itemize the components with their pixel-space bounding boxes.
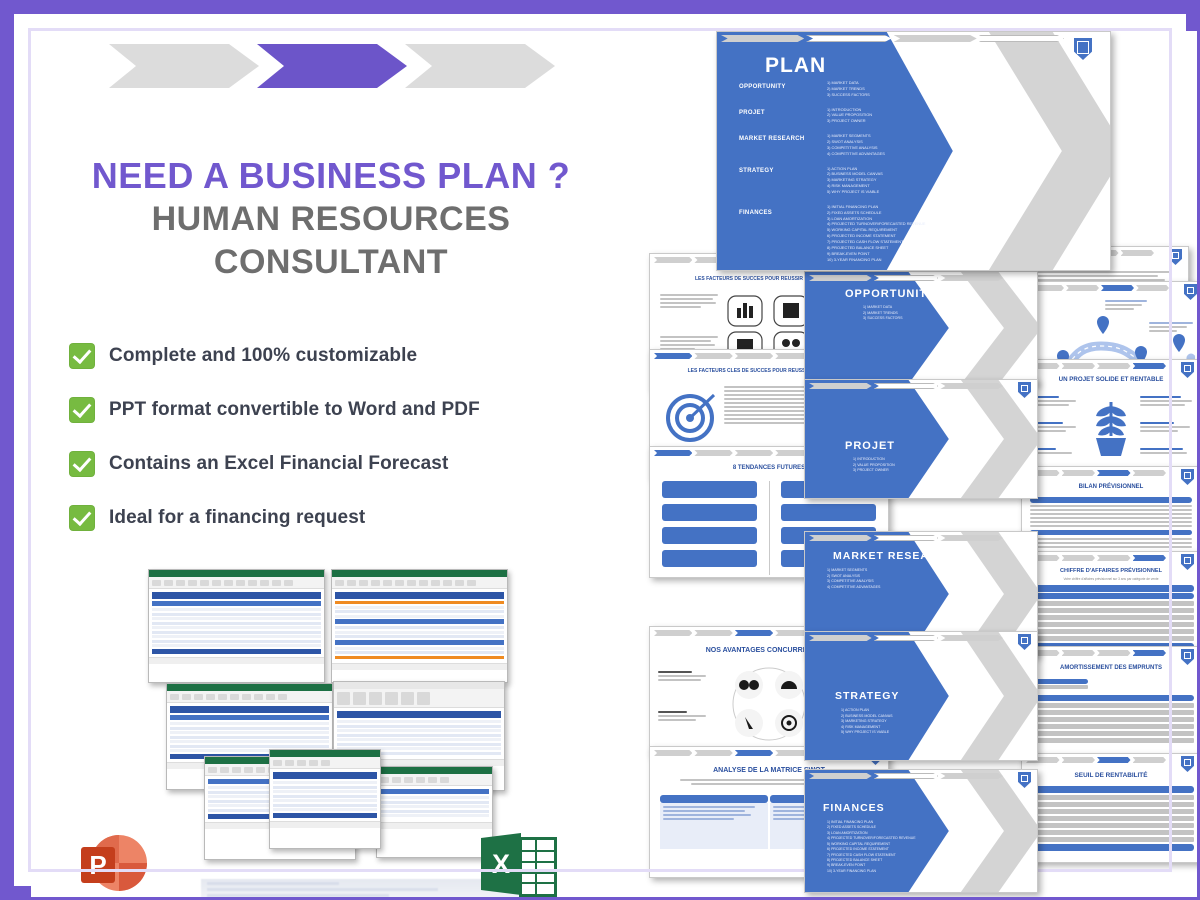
headline-question: NEED A BUSINESS PLAN ? (31, 156, 631, 196)
shield-icon (1018, 772, 1031, 788)
feature-label: PPT format convertible to Word and PDF (109, 399, 480, 421)
shield-icon (1181, 469, 1194, 485)
slide-title: CHIFFRE D'AFFAIRES PRÉVISIONNEL (1022, 568, 1197, 574)
shield-icon (1074, 38, 1092, 60)
section-title: OPPORTUNITY (845, 288, 935, 300)
shield-icon (1169, 249, 1182, 265)
headline-subject-line2: CONSULTANT (31, 243, 631, 282)
shield-icon (1181, 756, 1194, 772)
shield-icon (1184, 284, 1197, 300)
excel-window (148, 569, 325, 683)
feature-list: Complete and 100% customizable PPT forma… (69, 343, 629, 559)
excel-window (376, 766, 493, 858)
section-slide[interactable]: OPPORTUNITY 1) MARKET DATA 2) MARKET TRE… (804, 271, 1038, 385)
list-item: Ideal for a financing request (69, 505, 629, 531)
plan-title: PLAN (765, 54, 826, 78)
section-list: 1) MARKET DATA 2) MARKET TRENDS 3) SUCCE… (863, 305, 902, 322)
check-icon (69, 505, 95, 531)
content-slide[interactable]: AMORTISSEMENT DES EMPRUNTS (1021, 646, 1197, 758)
check-icon (69, 397, 95, 423)
slide-title: AMORTISSEMENT DES EMPRUNTS (1022, 665, 1197, 671)
slide-subtitle: Votre chiffre d'affaires prévisionnel su… (1022, 577, 1197, 581)
slide-subtitle (1022, 386, 1197, 390)
slide-title: UN PROJET SOLIDE ET RENTABLE (1022, 376, 1197, 383)
section-title: FINANCES (823, 802, 885, 814)
plant-icon (1082, 396, 1140, 458)
section-slide[interactable]: PROJET 1) INTRODUCTION 2) VALUE PROPOSIT… (804, 379, 1038, 499)
shield-icon (1018, 382, 1031, 398)
check-icon (69, 343, 95, 369)
page-frame: NEED A BUSINESS PLAN ? HUMAN RESOURCES C… (0, 0, 1200, 900)
headline-block: NEED A BUSINESS PLAN ? HUMAN RESOURCES C… (31, 156, 631, 283)
content-slide[interactable]: SEUIL DE RENTABILITÉ (1021, 753, 1197, 863)
feature-label: Complete and 100% customizable (109, 345, 417, 367)
shield-icon (1181, 649, 1194, 665)
list-item: Contains an Excel Financial Forecast (69, 451, 629, 477)
section-title: STRATEGY (835, 690, 899, 702)
section-title: MARKET RESEARCH (833, 550, 955, 562)
slide-title: SEUIL DE RENTABILITÉ (1022, 772, 1197, 779)
excel-logo-icon: X (481, 831, 553, 897)
section-list: 1) ACTION PLAN 2) BUSINESS MODEL CANVAS … (841, 708, 893, 736)
page-canvas: NEED A BUSINESS PLAN ? HUMAN RESOURCES C… (31, 31, 1197, 897)
process-chevron-graphic (109, 44, 549, 92)
list-item: Complete and 100% customizable (69, 343, 629, 369)
section-title: PROJET (845, 440, 895, 452)
chevron-step-1-icon (109, 44, 259, 88)
slide-title: BILAN PRÉVISIONNEL (1022, 484, 1197, 490)
shield-icon (1018, 634, 1031, 650)
section-slide[interactable]: STRATEGY 1) ACTION PLAN 2) BUSINESS MODE… (804, 631, 1038, 761)
chevron-step-3-icon (405, 44, 555, 88)
excel-window (269, 749, 381, 849)
excel-letter: X (485, 849, 517, 880)
plan-slide[interactable]: PLAN OPPORTUNITY PROJET MARKET RESEARCH … (716, 31, 1111, 271)
section-list: 1) INTRODUCTION 2) VALUE PROPOSITION 3) … (853, 457, 895, 474)
excel-window (331, 569, 508, 683)
powerpoint-letter: P (81, 847, 115, 883)
section-slide[interactable]: FINANCES 1) INITIAL FINANCING PLAN 2) FI… (804, 769, 1038, 893)
headline-subject-line1: HUMAN RESOURCES (31, 200, 631, 239)
powerpoint-logo-icon: P (79, 829, 149, 897)
plan-section-labels: OPPORTUNITY PROJET MARKET RESEARCH STRAT… (739, 84, 829, 216)
list-item: PPT format convertible to Word and PDF (69, 397, 629, 423)
chevron-step-2-icon (257, 44, 407, 88)
check-icon (69, 451, 95, 477)
feature-label: Ideal for a financing request (109, 507, 365, 529)
slide-deck-preview: LES FACTEURS DE SUCCES POUR REUSSIR VOTR… (631, 31, 1197, 897)
content-slide[interactable]: UN PROJET SOLIDE ET RENTABLE (1021, 359, 1197, 473)
section-list: 1) INITIAL FINANCING PLAN 2) FIXED ASSET… (827, 820, 916, 874)
feature-label: Contains an Excel Financial Forecast (109, 453, 448, 475)
plan-section-items: 1) MARKET DATA 2) MARKET TRENDS 3) SUCCE… (827, 80, 926, 262)
section-list: 1) MARKET SEGMENTS 2) SWOT ANALYSIS 3) C… (827, 568, 880, 590)
left-panel: NEED A BUSINESS PLAN ? HUMAN RESOURCES C… (31, 31, 631, 897)
target-icon (664, 390, 716, 442)
